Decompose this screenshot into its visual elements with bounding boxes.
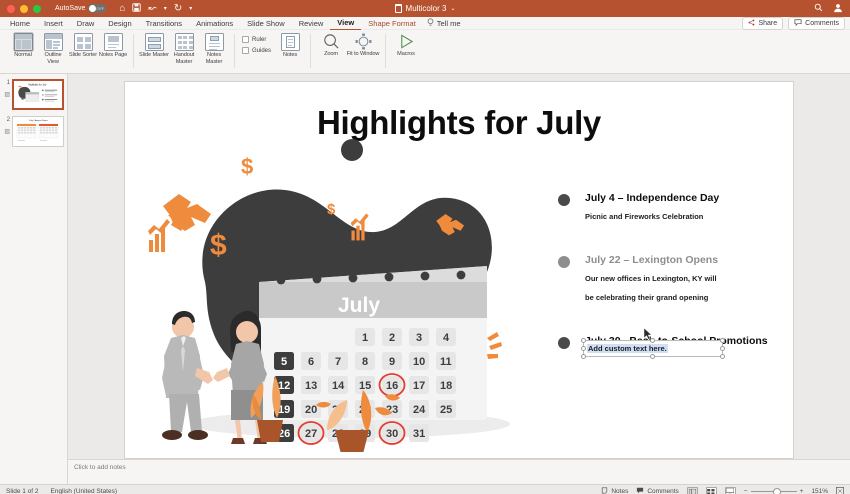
comments-button[interactable]: Comments [788,17,845,30]
account-icon[interactable] [833,3,843,15]
slide-master-icon [145,33,164,51]
tab-view[interactable]: View [330,16,361,30]
bullet-dot-icon [558,194,570,206]
resize-handle-middle-left[interactable] [581,346,586,351]
outline-view-button[interactable]: Outline View [38,32,68,65]
slide-master-button[interactable]: Slide Master [139,32,169,59]
zoom-magnifier-icon [323,33,340,50]
minimize-window-button[interactable] [20,5,28,13]
svg-text:11: 11 [440,356,452,368]
svg-text:25: 25 [440,404,452,416]
tell-me-label: Tell me [437,19,461,28]
svg-text:27: 27 [305,428,317,440]
thumbnail-number-2: 2 [7,117,10,123]
ruler-checkbox[interactable] [242,36,249,43]
outline-view-label: Outline View [38,52,68,65]
show-group: Ruler Guides Notes [235,32,310,72]
ruler-label: Ruler [252,37,266,43]
svg-text:3: 3 [416,332,422,344]
svg-text:12: 12 [278,380,290,392]
notes-button-label: Notes [611,488,628,494]
slide-thumbnail-2[interactable]: July / August Dates [12,116,64,147]
document-name: Multicolor 3 [406,4,447,13]
svg-text:9: 9 [389,356,395,368]
mouse-cursor-icon [644,328,653,340]
notes-placeholder: Click to add notes [74,464,126,471]
thumbnail-row-1[interactable]: 1 ▨ Highlights for July [2,79,65,110]
bullet-dot-icon [558,337,570,349]
tell-me-search[interactable]: Tell me [423,18,461,29]
notes-icon [281,33,300,51]
ruler-checkbox-row[interactable]: Ruler [242,36,271,43]
lightbulb-icon [427,18,434,29]
comments-button-label: Comments [647,488,678,494]
notes-page-icon [104,33,123,51]
handout-master-button[interactable]: Handout Master [169,32,199,65]
notes-button[interactable]: Notes [601,487,628,494]
comments-status-button[interactable]: Comments [636,487,678,494]
zoom-slider[interactable]: − + [744,488,804,494]
presentation-views-group: Normal Outline View Slide Sorter [3,32,133,72]
window-controls[interactable] [0,5,41,13]
save-icon[interactable] [132,3,141,15]
highlight-heading-2[interactable]: July 22 – Lexington Opens [585,254,780,267]
guides-checkbox-row[interactable]: Guides [242,47,271,54]
resize-handle-bottom-center[interactable] [650,354,655,359]
redo-icon[interactable]: ↻ [174,4,182,14]
svg-text:July: July [338,294,380,317]
zoom-label: Zoom [324,51,338,58]
zoom-level[interactable]: 151% [811,488,828,494]
svg-text:7: 7 [335,356,341,368]
undo-icon[interactable]: ↜ [148,4,156,14]
autosave-label: AutoSave [55,5,85,12]
ribbon-actions[interactable]: Share Comments [742,17,845,30]
macros-group: Macros [386,32,426,72]
notes-master-button[interactable]: Notes Master [199,32,229,65]
svg-text:18: 18 [440,380,452,392]
svg-text:$: $ [241,154,253,179]
language-indicator[interactable]: English (United States) [51,488,117,494]
notes-toggle-label: Notes [283,52,297,59]
slide-master-label: Slide Master [139,52,169,59]
notes-toggle-button[interactable]: Notes [275,32,305,59]
fit-to-window-button[interactable]: Fit to Window [346,32,380,58]
notes-page-button[interactable]: Notes Page [98,32,128,59]
highlight-subtext-2-line-1[interactable]: Our new offices in Lexington, KY will [585,271,780,286]
macros-button[interactable]: Macros [391,32,421,58]
thumbnail-row-2[interactable]: 2 ▨ July / August Dates [2,116,65,147]
hide-slide-icon[interactable]: ▨ [2,128,10,135]
fit-slide-icon[interactable] [836,487,844,494]
tab-animations[interactable]: Animations [189,17,240,30]
svg-text:15: 15 [359,380,371,392]
svg-text:5: 5 [281,356,287,368]
svg-text:$: $ [327,201,336,218]
resize-handle-top-right[interactable] [720,338,725,343]
comments-label: Comments [805,20,839,27]
notes-pane[interactable]: Click to add notes [68,459,850,484]
title-bar-actions[interactable] [814,0,843,17]
tab-shape-format[interactable]: Shape Format [361,17,423,30]
home-icon[interactable]: ⌂ [119,4,125,14]
slide-sorter-button[interactable]: Slide Sorter [68,32,98,59]
close-window-button[interactable] [7,5,15,13]
notes-page-label: Notes Page [99,52,127,59]
presentation-file-icon [395,4,402,13]
tab-design[interactable]: Design [101,17,138,30]
svg-text:4: 4 [443,332,450,344]
minus-icon[interactable]: − [744,488,748,494]
thumbnail-number-1: 1 [7,80,10,86]
svg-text:30: 30 [386,428,398,440]
work-area: 1 ▨ Highlights for July [0,74,850,484]
quick-access-toolbar[interactable]: ⌂ ↜ ▾ ↻ ▾ [119,3,192,15]
handout-master-icon [175,33,194,51]
resize-handle-bottom-right[interactable] [720,354,725,359]
zoom-group: Zoom Fit to Window [311,32,385,72]
highlight-item-1[interactable]: July 4 – Independence Day Picnic and Fir… [555,192,780,224]
master-views-group: Slide Master Handout Master [134,32,234,72]
tab-draw[interactable]: Draw [70,17,102,30]
slide-canvas-pane: Highlights for July [68,74,850,484]
highlight-subtext-1[interactable]: Picnic and Fireworks Celebration [585,209,780,224]
svg-text:1: 1 [362,332,368,344]
resize-handle-bottom-left[interactable] [581,354,586,359]
plus-icon[interactable]: + [800,488,804,494]
svg-text:July / August Dates: July / August Dates [29,119,49,122]
tab-slide-show[interactable]: Slide Show [240,17,292,30]
macros-play-icon [398,33,415,50]
ribbon-tab-bar[interactable]: Home Insert Draw Design Transitions Anim… [0,17,850,30]
undo-dropdown-icon[interactable]: ▾ [164,6,167,12]
svg-text:8: 8 [362,356,368,368]
svg-text:14: 14 [332,380,345,392]
autosave-control[interactable]: AutoSave OFF [55,4,106,13]
slide-thumbnail-pane[interactable]: 1 ▨ Highlights for July [0,74,68,484]
status-bar[interactable]: Slide 1 of 2 English (United States) Not… [0,484,850,494]
notes-master-label: Notes Master [199,52,229,65]
outline-view-icon [44,33,63,51]
svg-text:16: 16 [386,380,398,392]
highlight-item-2[interactable]: July 22 – Lexington Opens Our new office… [555,254,780,305]
normal-view-icon[interactable] [687,487,698,494]
share-label: Share [758,20,777,27]
macros-label: Macros [397,51,415,58]
tab-transitions[interactable]: Transitions [139,17,189,30]
svg-text:31: 31 [413,428,425,440]
maximize-window-button[interactable] [33,5,41,13]
notes-icon [601,487,608,494]
tab-home[interactable]: Home [3,17,37,30]
ribbon[interactable]: Normal Outline View Slide Sorter [0,30,850,74]
share-icon [748,19,755,28]
slide-sorter-label: Slide Sorter [69,52,97,59]
tab-insert[interactable]: Insert [37,17,70,30]
svg-text:2: 2 [389,332,395,344]
reading-view-icon[interactable] [725,487,736,494]
handout-master-label: Handout Master [169,52,199,65]
slide-sorter-icon [74,33,93,51]
highlight-subtext-2-line-2[interactable]: be celebrating their grand opening [585,290,780,305]
calendar-illustration[interactable]: $ $ $ [135,132,535,452]
notes-master-icon [205,33,224,51]
svg-text:13: 13 [305,380,317,392]
zoom-slider-knob[interactable] [773,488,781,494]
slide-stage: Highlights for July [68,74,850,459]
custom-textbox-value[interactable]: Add custom text here. [587,344,668,353]
current-slide[interactable]: Highlights for July [125,82,793,458]
zoom-slider-track[interactable] [751,491,797,492]
fit-to-window-label: Fit to Window [347,51,380,58]
svg-text:20: 20 [305,404,317,416]
svg-text:17: 17 [413,380,425,392]
share-button[interactable]: Share [742,17,783,30]
highlight-heading-1[interactable]: July 4 – Independence Day [585,192,780,205]
document-menu-chevron-icon[interactable]: ⌄ [450,5,455,12]
svg-text:6: 6 [308,356,314,368]
resize-handle-top-left[interactable] [581,338,586,343]
search-icon[interactable] [814,3,823,14]
fit-to-window-icon [355,33,372,50]
slide-thumbnail-1[interactable]: Highlights for July [12,79,64,110]
slide-sorter-icon[interactable] [706,487,717,494]
normal-view-label: Normal [14,52,31,59]
custom-textbox[interactable]: Add custom text here. [583,340,723,357]
customize-qat-icon[interactable]: ▾ [189,6,192,12]
comment-icon [636,487,644,494]
title-bar: AutoSave OFF ⌂ ↜ ▾ ↻ ▾ Multicolor 3 ⌄ [0,0,850,17]
slide-counter: Slide 1 of 2 [6,488,39,494]
bullet-dot-icon [558,256,570,268]
svg-text:Highlights for July: Highlights for July [28,84,47,87]
tab-review[interactable]: Review [292,17,331,30]
hide-slide-icon[interactable]: ▨ [2,91,10,98]
autosave-toggle[interactable]: OFF [88,4,106,13]
resize-handle-middle-right[interactable] [720,346,725,351]
svg-text:10: 10 [413,356,425,368]
guides-checkbox[interactable] [242,47,249,54]
svg-text:24: 24 [413,404,426,416]
guides-label: Guides [252,48,271,54]
svg-text:$: $ [210,229,227,262]
normal-view-icon [14,33,33,51]
autosave-state: OFF [96,6,104,11]
normal-view-button[interactable]: Normal [8,32,38,59]
zoom-button[interactable]: Zoom [316,32,346,58]
comment-icon [794,19,802,28]
